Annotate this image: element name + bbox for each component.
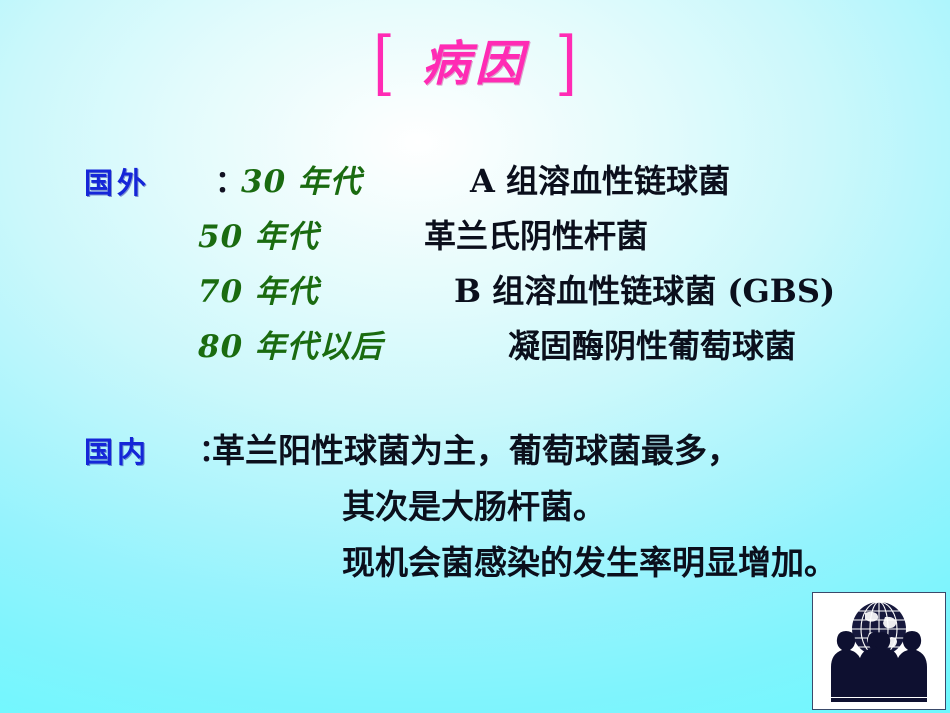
slide-title: [ 病因 ]	[0, 36, 950, 92]
table-row: 国外 ： 30 年代 A 组溶血性链球菌	[84, 156, 950, 211]
pathogen-label-1: 革兰氏阴性杆菌	[424, 211, 648, 257]
era-label-2: 70 年代	[198, 266, 319, 311]
era-label-3: 80 年代以后	[198, 321, 383, 366]
logo-baseline	[831, 698, 927, 702]
globe-with-two-figures-logo	[812, 592, 946, 710]
slide-canvas: [ 病因 ] 国外 ： 30 年代 A 组溶血性链球菌 50 年代 革兰氏阴性杆…	[0, 0, 950, 713]
domestic-line-0: 革兰阳性球菌为主，葡萄球菌最多，	[212, 424, 740, 472]
page-title: 病因	[422, 40, 528, 88]
pathogen-label-3: 凝固酶阴性葡萄球菌	[508, 321, 796, 367]
domestic-etiology-block: 国内 ： 革兰阳性球菌为主，葡萄球菌最多， 其次是大肠杆菌。 现机会菌感染的发生…	[84, 424, 950, 592]
list-item: 国内 ： 革兰阳性球菌为主，葡萄球菌最多，	[84, 424, 950, 480]
table-row: 70 年代 B 组溶血性链球菌 (GBS)	[84, 266, 950, 321]
logo-artwork	[813, 593, 945, 709]
title-bracket-right-icon: ]	[555, 29, 577, 99]
era-label-1: 50 年代	[198, 211, 319, 256]
era-label-0: 30 年代	[241, 156, 362, 201]
table-row: 50 年代 革兰氏阴性杆菌	[84, 211, 950, 266]
domestic-line-2: 现机会菌感染的发生率明显增加。	[342, 543, 837, 582]
domestic-line-1: 其次是大肠杆菌。	[342, 487, 606, 526]
list-item: 现机会菌感染的发生率明显增加。	[84, 536, 950, 592]
pathogen-label-2: B 组溶血性链球菌 (GBS)	[454, 266, 835, 312]
foreign-etiology-block: 国外 ： 30 年代 A 组溶血性链球菌 50 年代 革兰氏阴性杆菌 70 年代…	[84, 156, 950, 376]
foreign-label: 国外	[84, 160, 150, 202]
table-row: 80 年代以后 凝固酶阴性葡萄球菌	[84, 321, 950, 376]
domestic-label: 国内	[84, 429, 150, 471]
title-bracket-left-icon: [	[373, 29, 395, 99]
pathogen-label-0: A 组溶血性链球菌	[470, 156, 730, 202]
list-item: 其次是大肠杆菌。	[84, 480, 950, 536]
